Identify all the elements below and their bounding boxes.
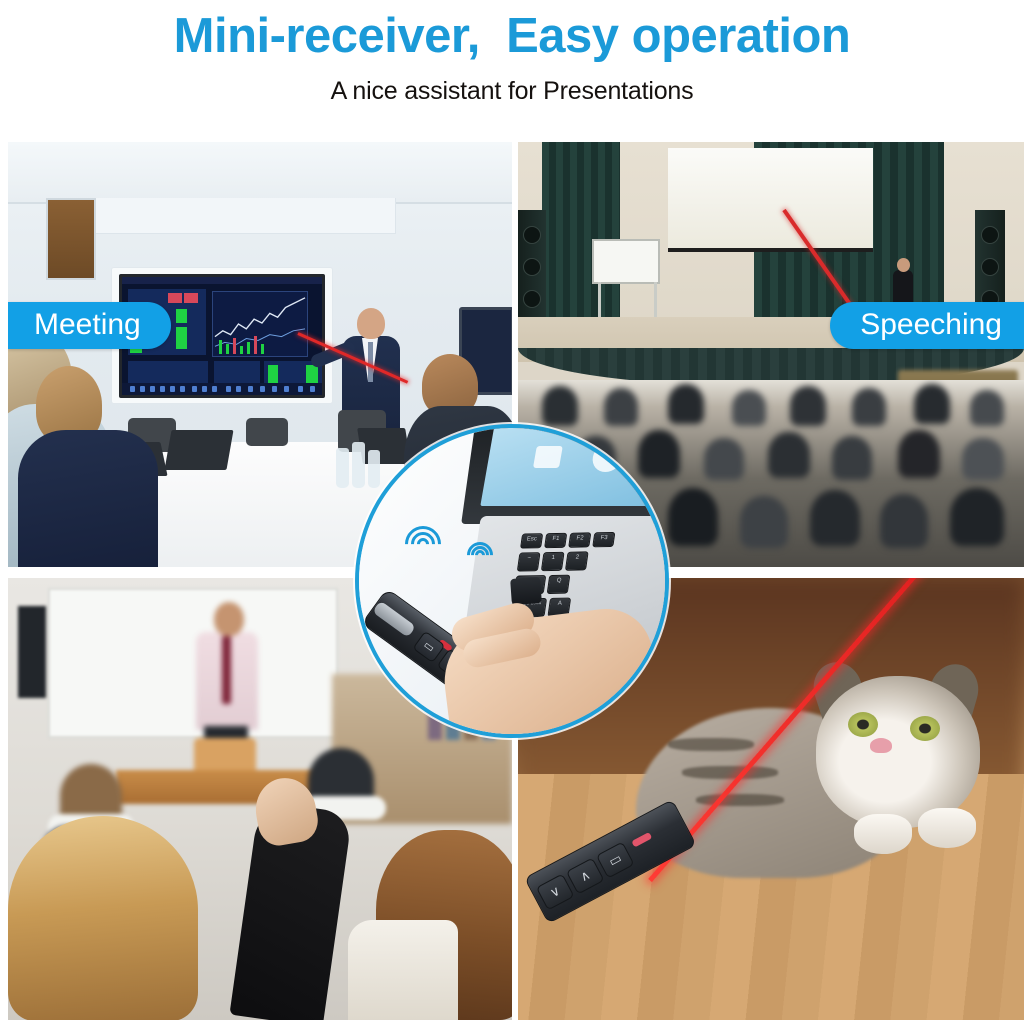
red-block — [184, 293, 198, 303]
badge-meeting[interactable]: Meeting — [8, 302, 171, 349]
water-bottle — [336, 448, 349, 488]
cat-head — [816, 676, 980, 828]
volume-bar — [240, 346, 243, 354]
head — [357, 308, 385, 339]
student-white-top — [348, 920, 458, 1020]
laptop — [164, 430, 233, 470]
key-2[interactable]: 2 — [565, 551, 589, 570]
soffit — [96, 198, 396, 234]
green-block — [176, 309, 187, 323]
cat-paw-left — [854, 814, 912, 854]
header: Mini-receiver, Easy operation A nice ass… — [0, 0, 1024, 132]
product-marketing-image: Mini-receiver, Easy operation A nice ass… — [0, 0, 1024, 1024]
page-subtitle: A nice assistant for Presentations — [0, 61, 1024, 106]
usb-receiver-dongle — [510, 577, 542, 605]
green-block — [306, 365, 318, 383]
key-f3[interactable]: F3 — [592, 532, 615, 547]
wood-cabinet — [46, 198, 96, 280]
necktie — [222, 636, 231, 704]
display-taskbar — [122, 383, 322, 395]
cat-paw-right — [918, 808, 976, 848]
laptop-lid — [461, 424, 669, 524]
green-block — [268, 365, 278, 383]
volume-bar — [247, 342, 250, 354]
key-esc[interactable]: Esc — [520, 533, 543, 548]
volume-bar — [226, 344, 229, 354]
head — [897, 258, 910, 272]
whiteboard — [592, 239, 660, 284]
key-f2[interactable]: F2 — [568, 532, 591, 547]
volume-bar — [219, 340, 222, 354]
projection-screen — [668, 148, 873, 252]
key-f1[interactable]: F1 — [544, 533, 567, 548]
green-block — [176, 327, 187, 349]
volume-bar — [233, 338, 236, 354]
laptop-screen — [480, 428, 669, 506]
key-q[interactable]: Q — [547, 575, 571, 594]
key-1[interactable]: 1 — [541, 552, 565, 571]
badge-speeching[interactable]: Speeching — [830, 302, 1024, 349]
cat-eye-left — [848, 712, 878, 737]
red-block — [168, 293, 182, 303]
key-tilde[interactable]: ~ — [517, 552, 541, 571]
page-title: Mini-receiver, Easy operation — [0, 0, 1024, 61]
volume-bar — [261, 344, 264, 354]
product-closeup-inset: Esc F1 F2 F3 ~ 1 2 Tab Q Caps Lock A Shi… — [355, 424, 669, 738]
display-titlebar — [122, 277, 322, 284]
student-blonde-hair — [8, 816, 198, 1020]
wall-panel — [18, 606, 46, 698]
office-chair — [246, 418, 288, 446]
necktie — [368, 342, 373, 382]
head — [214, 602, 244, 636]
cat-nose — [870, 738, 892, 753]
volume-bar — [254, 336, 257, 354]
attendee-body — [18, 430, 158, 567]
line-chart — [212, 291, 308, 357]
ceiling — [8, 142, 512, 204]
cat-eye-right — [910, 716, 940, 741]
